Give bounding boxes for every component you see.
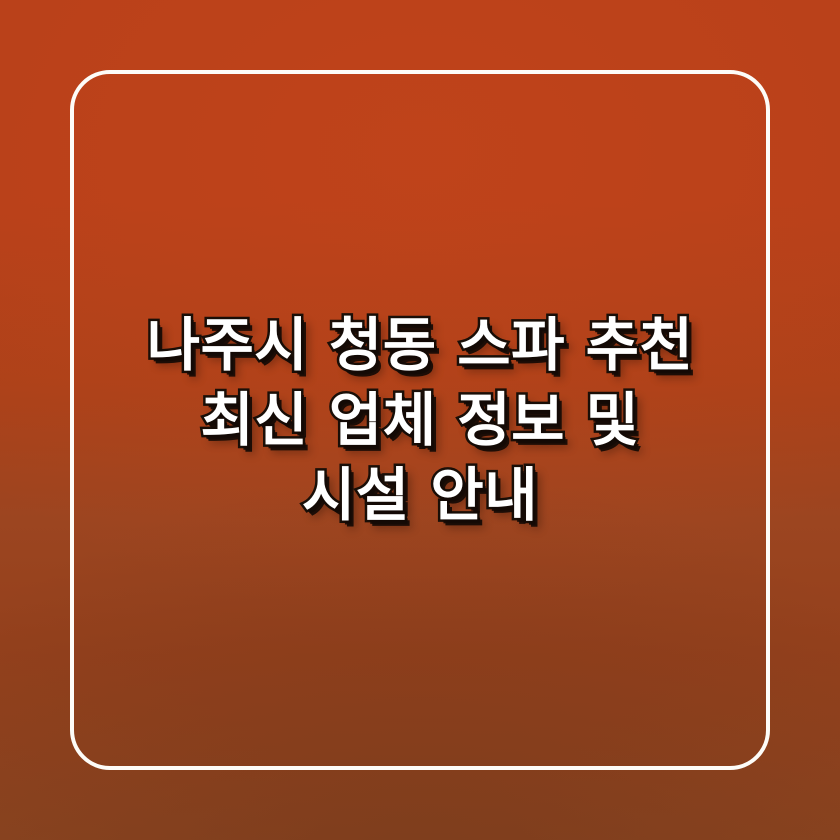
title-line-3: 시설 안내 bbox=[86, 458, 754, 533]
title-block: 나주시 청동 스파 추천 최신 업체 정보 및 시설 안내 bbox=[0, 0, 840, 840]
title-line-2: 최신 업체 정보 및 bbox=[86, 383, 754, 458]
thumbnail-card: 나주시 청동 스파 추천 최신 업체 정보 및 시설 안내 bbox=[0, 0, 840, 840]
title-line-1: 나주시 청동 스파 추천 bbox=[86, 308, 754, 383]
